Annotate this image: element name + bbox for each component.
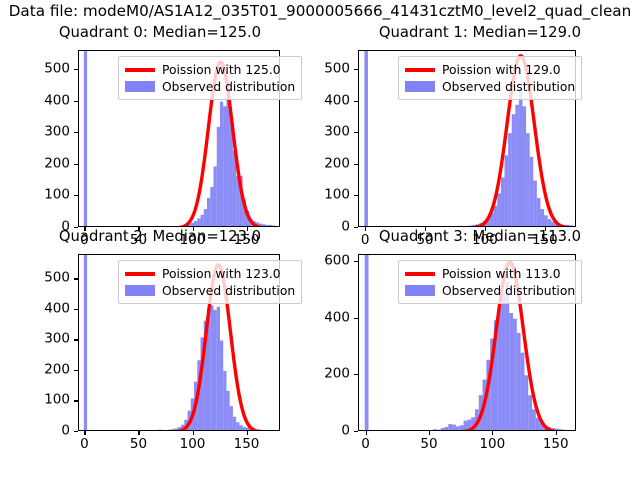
y-tick-label: 300: [14, 332, 70, 347]
legend-line-icon: [405, 68, 435, 72]
histogram-bar: [562, 430, 566, 431]
x-tick-label: 0: [361, 437, 370, 452]
histogram-bar: [508, 133, 512, 227]
figure-suptitle: Data file: modeM0/AS1A12_035T01_90000056…: [9, 2, 632, 20]
histogram-bar: [437, 430, 441, 431]
x-tick: [138, 431, 139, 435]
histogram-bar: [533, 181, 537, 227]
histogram-bar: [517, 333, 521, 431]
histogram-bar: [207, 198, 210, 227]
y-tick-label: 100: [14, 393, 70, 408]
histogram-bar: [548, 219, 552, 227]
legend-quadrant-1: Poission with 129.0 Observed distributio…: [398, 56, 582, 100]
histogram-bar: [246, 428, 249, 431]
histogram-bar: [197, 219, 200, 227]
x-tick: [193, 431, 194, 435]
x-tick-label: 100: [180, 437, 206, 452]
histogram-bar: [191, 223, 194, 227]
histogram-bar: [168, 430, 171, 431]
histogram-bar: [213, 310, 216, 431]
histogram-bar: [217, 307, 220, 431]
legend-line-icon: [125, 68, 155, 72]
histogram-zero-spike: [84, 255, 87, 431]
histogram-bar: [162, 430, 165, 431]
y-tick-label: 300: [14, 125, 70, 140]
legend-quadrant-2: Poission with 123.0 Observed distributio…: [118, 260, 302, 304]
histogram-bar: [505, 282, 509, 431]
histogram-bar: [502, 293, 506, 431]
legend-label-observed: Observed distribution: [442, 79, 575, 95]
histogram-bar: [523, 106, 527, 227]
x-tick: [84, 431, 85, 435]
legend-quadrant-0: Poission with 125.0 Observed distributio…: [118, 56, 302, 100]
histogram-bar: [530, 157, 534, 227]
histogram-bar: [445, 427, 449, 431]
x-tick: [366, 431, 367, 435]
legend-row-observed: Observed distribution: [405, 78, 575, 95]
legend-line-icon: [405, 272, 435, 276]
legend-label-observed: Observed distribution: [162, 79, 295, 95]
histogram-bar: [433, 429, 437, 431]
subplot-quadrant-1: Quadrant 1: Median=129.0 050100150010020…: [320, 24, 640, 240]
histogram-bar: [513, 319, 517, 431]
histogram-bar: [537, 198, 541, 227]
histogram-bar: [501, 177, 505, 227]
legend-line-icon: [125, 272, 155, 276]
histogram-bar: [528, 395, 532, 431]
legend-quadrant-3: Poission with 113.0 Observed distributio…: [398, 260, 582, 304]
histogram-bar: [452, 425, 456, 431]
legend-row-poisson: Poission with 123.0: [125, 265, 295, 282]
x-tick-label: 50: [420, 437, 437, 452]
histogram-bar: [259, 430, 262, 431]
y-tick: [74, 431, 78, 432]
histogram-bar: [265, 225, 268, 227]
histogram-bar: [448, 424, 452, 431]
legend-label-poisson: Poission with 123.0: [162, 266, 281, 282]
histogram-bar: [524, 375, 528, 431]
histogram-bar: [494, 206, 498, 227]
histogram-bar: [230, 406, 233, 431]
x-tick-label: 50: [130, 437, 147, 452]
histogram-bar: [515, 105, 519, 227]
y-tick-label: 500: [14, 271, 70, 286]
histogram-bar: [194, 221, 197, 227]
histogram-bar: [269, 225, 272, 227]
subplot-quadrant-0: Quadrant 0: Median=125.0 050100150010020…: [0, 24, 320, 240]
histogram-bar: [165, 430, 168, 431]
x-tick-label: 0: [80, 437, 89, 452]
histogram-bar: [226, 391, 229, 431]
histogram-bar: [429, 430, 433, 431]
histogram-bar: [223, 106, 226, 227]
histogram-bar: [512, 114, 516, 227]
histogram-bar: [469, 225, 473, 227]
subplot-title-quadrant-0: Quadrant 0: Median=125.0: [59, 24, 261, 41]
histogram-bar: [210, 187, 213, 227]
y-tick-label: 200: [14, 156, 70, 171]
legend-row-observed: Observed distribution: [125, 282, 295, 299]
legend-label-poisson: Poission with 113.0: [442, 266, 561, 282]
subplot-quadrant-3: Quadrant 3: Median=113.0 050100150020040…: [320, 228, 640, 458]
histogram-bar: [158, 430, 161, 431]
histogram-bar: [239, 425, 242, 431]
histogram-bar: [272, 225, 275, 227]
x-tick-label: 150: [234, 437, 260, 452]
histogram-bar: [532, 409, 536, 431]
histogram-bar: [213, 166, 216, 227]
histogram-bar: [233, 417, 236, 431]
y-tick: [354, 431, 358, 432]
histogram-bar: [460, 425, 464, 431]
histogram-bar: [461, 226, 465, 227]
y-tick-label: 400: [14, 93, 70, 108]
histogram-bar: [275, 226, 278, 227]
histogram-bar: [521, 353, 525, 431]
legend-patch-icon: [405, 81, 435, 92]
x-tick: [492, 431, 493, 435]
matplotlib-figure: Data file: modeM0/AS1A12_035T01_90000056…: [0, 0, 640, 480]
subplot-title-quadrant-3: Quadrant 3: Median=113.0: [379, 228, 581, 245]
histogram-bar: [519, 89, 523, 227]
legend-label-poisson: Poission with 129.0: [442, 62, 561, 78]
histogram-zero-spike: [364, 51, 368, 227]
legend-row-observed: Observed distribution: [405, 282, 575, 299]
subplot-title-quadrant-2: Quadrant 2: Median=123.0: [59, 228, 261, 245]
histogram-bar: [497, 193, 501, 227]
legend-row-poisson: Poission with 113.0: [405, 265, 575, 282]
legend-row-poisson: Poission with 125.0: [125, 61, 295, 78]
histogram-bar: [509, 313, 513, 431]
histogram-bar: [220, 340, 223, 431]
histogram-bar: [259, 224, 262, 227]
subplot-title-quadrant-1: Quadrant 1: Median=129.0: [379, 24, 581, 41]
histogram-bar: [262, 430, 265, 431]
histogram-bar: [526, 133, 530, 227]
histogram-zero-spike: [84, 51, 87, 227]
legend-patch-icon: [125, 285, 155, 296]
histogram-bar: [243, 427, 246, 431]
histogram-bar: [265, 430, 268, 431]
y-tick-label: 200: [14, 362, 70, 377]
histogram-bar: [217, 127, 220, 227]
legend-patch-icon: [125, 81, 155, 92]
histogram-bar: [566, 430, 570, 431]
legend-label-poisson: Poission with 125.0: [162, 62, 281, 78]
histogram-bar: [569, 225, 573, 227]
histogram-bar: [262, 224, 265, 227]
histogram-bar: [204, 209, 207, 227]
y-tick-label: 400: [14, 301, 70, 316]
legend-label-observed: Observed distribution: [162, 283, 295, 299]
y-tick-label: 0: [14, 424, 70, 439]
histogram-bar: [178, 226, 181, 227]
histogram-zero-spike: [365, 255, 369, 431]
histogram-bar: [540, 209, 544, 227]
histogram-bar: [171, 429, 174, 431]
x-tick-label: 100: [479, 437, 505, 452]
legend-patch-icon: [405, 285, 435, 296]
histogram-bar: [236, 422, 239, 431]
histogram-bar: [175, 428, 178, 431]
histogram-bar: [201, 215, 204, 227]
legend-label-observed: Observed distribution: [442, 283, 575, 299]
x-tick: [429, 431, 430, 435]
y-tick-label: 100: [14, 188, 70, 203]
histogram-bar: [465, 226, 469, 227]
histogram-bar: [223, 371, 226, 431]
legend-row-observed: Observed distribution: [125, 78, 295, 95]
histogram-bar: [175, 226, 178, 227]
x-tick: [556, 431, 557, 435]
legend-row-poisson: Poission with 129.0: [405, 61, 575, 78]
histogram-bar: [505, 155, 509, 227]
x-tick: [247, 431, 248, 435]
y-tick-label: 500: [14, 61, 70, 76]
x-tick-label: 150: [543, 437, 569, 452]
histogram-bar: [269, 430, 272, 431]
histogram-bar: [544, 215, 548, 227]
histogram-bar: [441, 428, 445, 431]
histogram-bar: [210, 305, 213, 431]
subplot-quadrant-2: Quadrant 2: Median=123.0 050100150010020…: [0, 228, 320, 458]
histogram-bar: [220, 102, 223, 227]
histogram-bar: [456, 426, 460, 431]
histogram-bar: [559, 429, 563, 431]
